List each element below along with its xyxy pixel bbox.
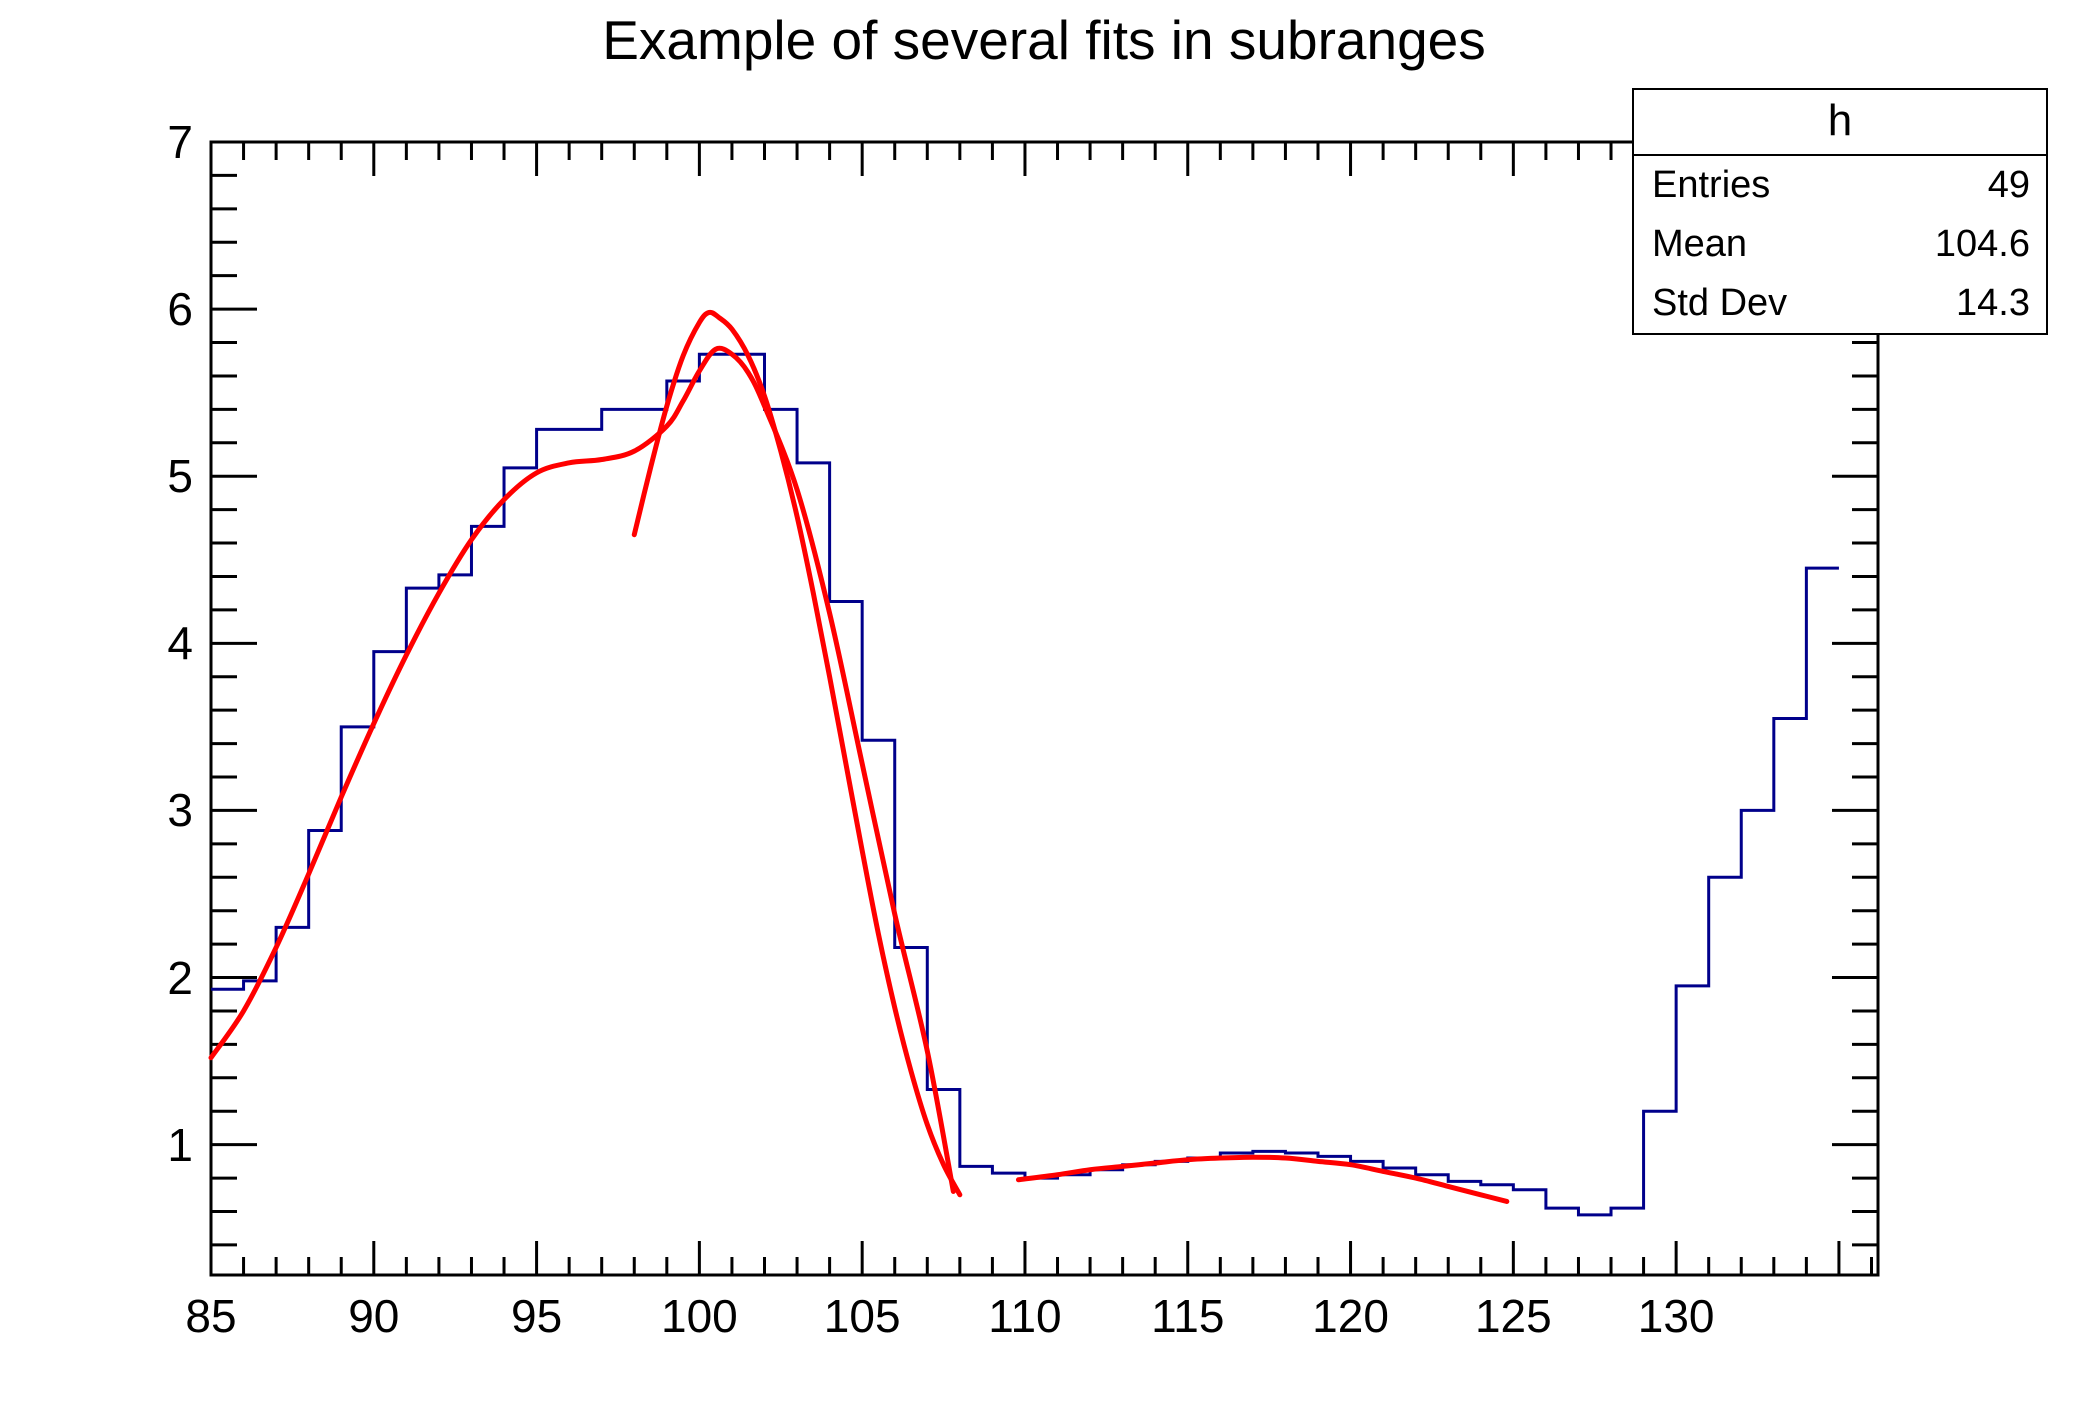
statistics-row: Std Dev14.3 <box>1634 274 2046 333</box>
statistics-rows: Entries49Mean104.6Std Dev14.3 <box>1634 156 2046 333</box>
statistics-box[interactable]: h Entries49Mean104.6Std Dev14.3 <box>1632 88 2048 335</box>
statistics-key: Std Dev <box>1652 282 1787 325</box>
y-tick-label: 3 <box>131 783 193 837</box>
y-tick-label: 6 <box>131 282 193 336</box>
x-tick-label: 85 <box>185 1289 236 1343</box>
statistics-row: Mean104.6 <box>1634 215 2046 274</box>
y-tick-label: 2 <box>131 951 193 1005</box>
axis-frame <box>211 142 1878 1275</box>
statistics-value: 14.3 <box>1956 282 2030 325</box>
x-tick-label: 120 <box>1312 1289 1389 1343</box>
root-canvas: Example of several fits in subranges 859… <box>0 0 2088 1416</box>
x-tick-label: 95 <box>511 1289 562 1343</box>
y-tick-label: 7 <box>131 115 193 169</box>
x-tick-label: 100 <box>661 1289 738 1343</box>
statistics-key: Mean <box>1652 223 1747 266</box>
statistics-value: 104.6 <box>1935 223 2030 266</box>
x-tick-label: 90 <box>348 1289 399 1343</box>
histogram-series <box>211 354 1839 1215</box>
x-tick-label: 105 <box>824 1289 901 1343</box>
statistics-key: Entries <box>1652 164 1770 207</box>
y-tick-label: 5 <box>131 449 193 503</box>
statistics-row: Entries49 <box>1634 156 2046 215</box>
x-tick-label: 110 <box>988 1289 1061 1343</box>
statistics-value: 49 <box>1988 164 2030 207</box>
y-tick-label: 1 <box>131 1118 193 1172</box>
axis-ticks <box>211 142 1878 1275</box>
statistics-title: h <box>1634 90 2046 156</box>
fit-curves <box>211 312 1507 1201</box>
y-tick-label: 4 <box>131 616 193 670</box>
x-tick-label: 130 <box>1638 1289 1715 1343</box>
x-tick-label: 115 <box>1151 1289 1224 1343</box>
x-tick-label: 125 <box>1475 1289 1552 1343</box>
